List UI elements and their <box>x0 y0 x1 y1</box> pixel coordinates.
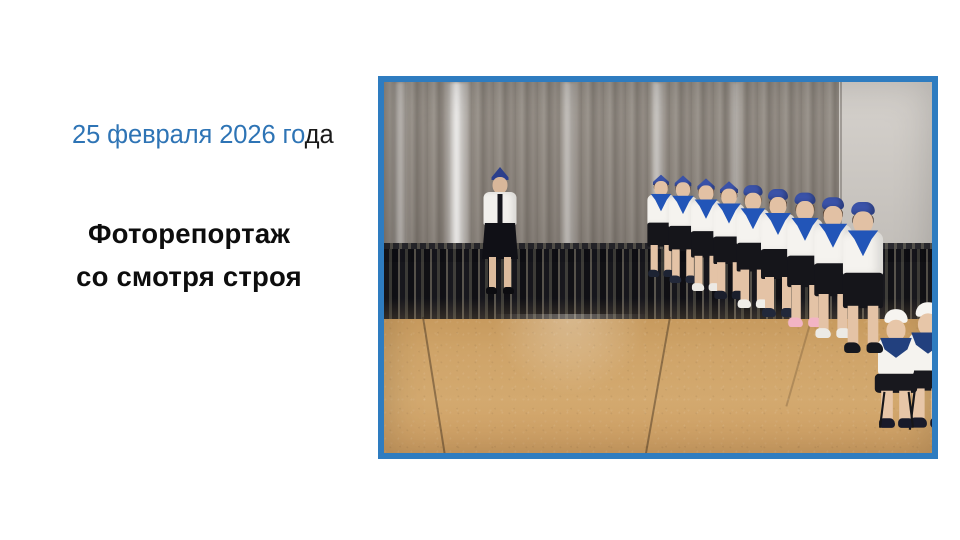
leg <box>489 257 496 289</box>
leg <box>695 256 703 286</box>
shoe <box>486 287 497 294</box>
leg <box>765 277 774 311</box>
shoe <box>738 299 751 308</box>
shoe <box>503 287 514 294</box>
shoe <box>692 283 704 291</box>
date-line-dark: да <box>305 121 334 149</box>
leg <box>791 285 800 321</box>
shoe <box>788 318 803 327</box>
shoe <box>815 328 830 338</box>
date-line: 25 февраля 2026 года <box>72 121 334 149</box>
date-line-blue: 25 февраля 2026 го <box>72 121 305 149</box>
page-title: Фоторепортаж со смотря строя <box>0 212 378 299</box>
leg <box>504 257 511 289</box>
black-shorts <box>843 273 883 308</box>
shoe <box>867 342 884 353</box>
leg <box>741 270 750 303</box>
headline-line-2: со смотря строя <box>0 255 378 298</box>
photo-frame[interactable] <box>378 76 938 459</box>
head <box>918 313 932 335</box>
leg <box>672 249 680 278</box>
shoe <box>762 308 776 317</box>
leg <box>848 306 859 346</box>
child-in-row <box>841 202 886 353</box>
shoe <box>648 270 659 277</box>
shoe <box>930 417 932 427</box>
floor-light-sheen <box>494 314 647 394</box>
leg <box>717 262 725 293</box>
black-skirt <box>482 223 518 259</box>
photo-image <box>384 82 932 453</box>
shoe <box>844 342 861 353</box>
text-column: 25 февраля 2026 года Фоторепортаж со смо… <box>0 0 378 540</box>
leg <box>651 245 658 272</box>
seated-legs <box>875 374 917 393</box>
presentation-slide: 25 февраля 2026 года Фоторепортаж со смо… <box>0 0 960 540</box>
black-tie <box>498 194 503 226</box>
leader-child <box>480 167 520 295</box>
shin <box>931 388 932 419</box>
leg <box>819 294 829 331</box>
head <box>886 319 905 340</box>
shoe <box>714 291 727 299</box>
shoe <box>670 275 682 283</box>
headline-line-1: Фоторепортаж <box>88 218 290 249</box>
leg <box>868 306 879 346</box>
